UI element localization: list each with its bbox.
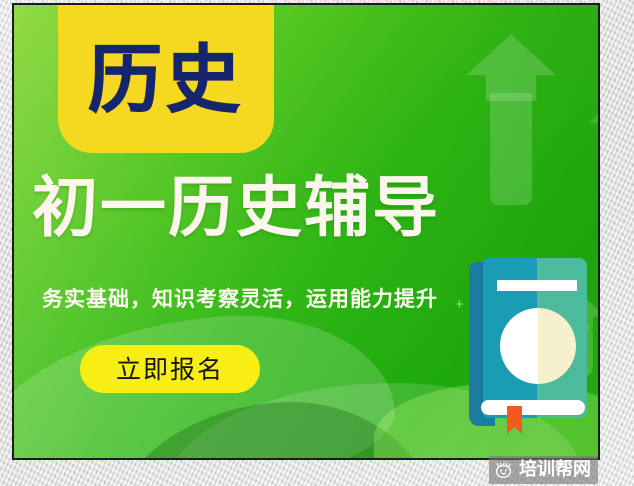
up-arrow-icon: [466, 33, 556, 193]
site-watermark: 培训帮网: [489, 456, 598, 484]
book-top-band: [497, 280, 577, 291]
book-circle-emblem: [500, 308, 576, 384]
subject-badge-label: 历史: [88, 43, 244, 117]
plus-sparkle-icon: +: [599, 277, 600, 288]
book-bookmark-icon: [507, 406, 522, 434]
smiley-sun-face-icon: [494, 461, 513, 480]
subject-badge: 历史: [58, 3, 274, 153]
book-circle-left-half: [500, 308, 538, 384]
enroll-now-button-label: 立即报名: [116, 357, 224, 382]
wave-shape-dark: [100, 394, 437, 460]
up-arrow-icon: [589, 87, 600, 197]
up-arrow-head: [466, 33, 556, 101]
banner-subheadline: 务实基础，知识考察灵活，运用能力提升: [42, 283, 438, 313]
watermark-label: 培训帮网: [519, 461, 591, 479]
banner-headline: 初一历史辅导: [32, 173, 572, 242]
book-circle-right-half: [538, 308, 576, 384]
book-bottom-band: [481, 400, 585, 415]
up-arrow-head: [589, 87, 600, 143]
plus-sparkle-icon: +: [455, 297, 464, 312]
book-illustration: [469, 258, 587, 426]
enroll-now-button[interactable]: 立即报名: [80, 345, 260, 393]
course-promo-banner: 历史 初一历史辅导 务实基础，知识考察灵活，运用能力提升 立即报名 + +: [12, 3, 600, 460]
